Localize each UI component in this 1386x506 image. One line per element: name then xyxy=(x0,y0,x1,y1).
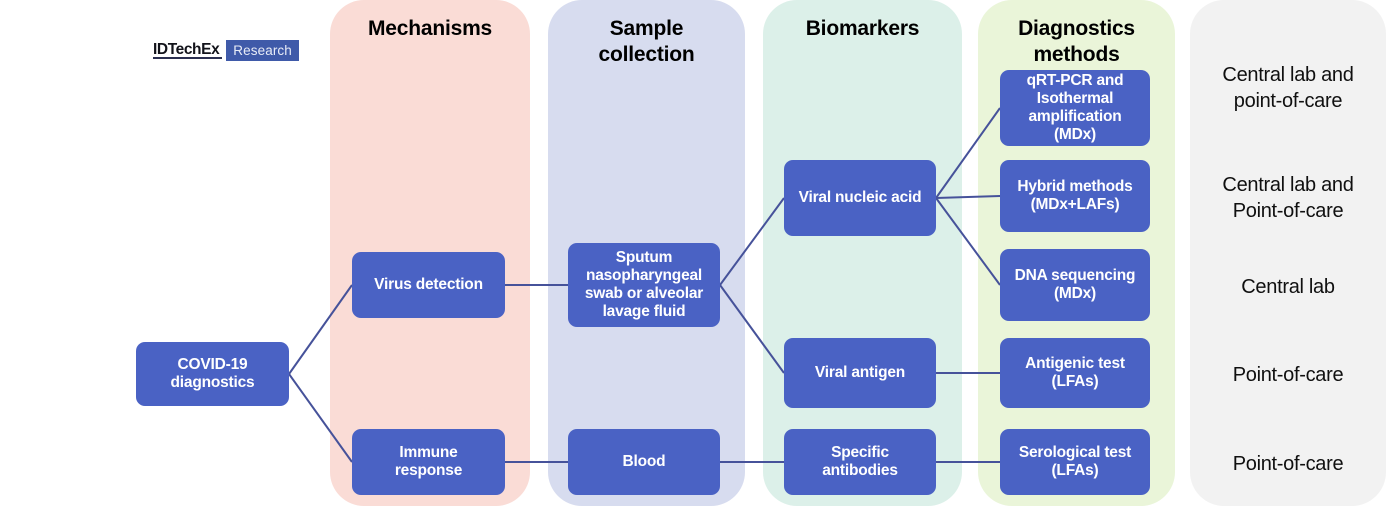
idtechex-logo: IDTechEx Research xyxy=(153,40,299,61)
node-mech-immune[interactable]: Immune response xyxy=(352,429,505,495)
column-header-sample: Sample collection xyxy=(548,16,745,67)
diagram-canvas: MechanismsSample collectionBiomarkersDia… xyxy=(0,0,1386,506)
setting-1: Central lab and point-of-care xyxy=(1190,62,1386,114)
node-bio-antigen[interactable]: Viral antigen xyxy=(784,338,936,408)
node-dx-dna[interactable]: DNA sequencing (MDx) xyxy=(1000,249,1150,321)
logo-wordmark: IDTechEx xyxy=(153,40,222,59)
node-root[interactable]: COVID-19 diagnostics xyxy=(136,342,289,406)
node-label: qRT-PCR and Isothermal amplification (MD… xyxy=(1027,72,1124,144)
node-label: Specific antibodies xyxy=(822,444,898,480)
node-mech-virus[interactable]: Virus detection xyxy=(352,252,505,318)
node-label: Blood xyxy=(623,453,666,471)
node-samp-blood[interactable]: Blood xyxy=(568,429,720,495)
setting-4: Point-of-care xyxy=(1190,362,1386,388)
column-header-mechanisms: Mechanisms xyxy=(330,16,530,42)
node-label: Hybrid methods (MDx+LAFs) xyxy=(1017,178,1132,214)
node-dx-pcr[interactable]: qRT-PCR and Isothermal amplification (MD… xyxy=(1000,70,1150,146)
node-samp-sputum[interactable]: Sputum nasopharyngeal swab or alveolar l… xyxy=(568,243,720,327)
node-dx-serology[interactable]: Serological test (LFAs) xyxy=(1000,429,1150,495)
node-label: Antigenic test (LFAs) xyxy=(1025,355,1125,391)
column-header-biomarkers: Biomarkers xyxy=(763,16,962,42)
column-header-diagnostics: Diagnostics methods xyxy=(978,16,1175,67)
node-dx-hybrid[interactable]: Hybrid methods (MDx+LAFs) xyxy=(1000,160,1150,232)
node-label: COVID-19 diagnostics xyxy=(171,356,255,392)
node-label: Serological test (LFAs) xyxy=(1019,444,1131,480)
node-dx-antigenic[interactable]: Antigenic test (LFAs) xyxy=(1000,338,1150,408)
setting-3: Central lab xyxy=(1190,274,1386,300)
node-label: Viral antigen xyxy=(815,364,905,382)
setting-2: Central lab and Point-of-care xyxy=(1190,172,1386,224)
logo-research-tag: Research xyxy=(226,40,299,61)
node-bio-antibody[interactable]: Specific antibodies xyxy=(784,429,936,495)
node-label: Immune response xyxy=(395,444,462,480)
setting-5: Point-of-care xyxy=(1190,451,1386,477)
node-bio-nucleic[interactable]: Viral nucleic acid xyxy=(784,160,936,236)
node-label: Sputum nasopharyngeal swab or alveolar l… xyxy=(585,249,703,321)
node-label: DNA sequencing (MDx) xyxy=(1015,267,1136,303)
node-label: Virus detection xyxy=(374,276,483,294)
node-label: Viral nucleic acid xyxy=(799,189,922,207)
